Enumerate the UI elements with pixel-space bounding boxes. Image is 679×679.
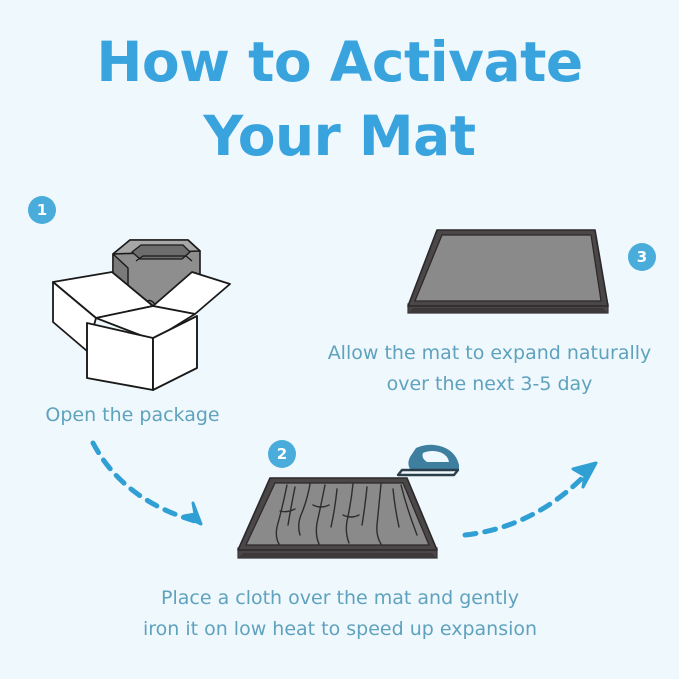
step-1-caption: Open the package — [0, 400, 265, 431]
title-line-2: Your Mat — [0, 100, 679, 174]
step-3-caption-line-2: over the next 3-5 day — [300, 369, 679, 400]
step-2-caption: Place a cloth over the mat and gently ir… — [110, 583, 570, 645]
step-1-caption-line-1: Open the package — [0, 400, 265, 431]
title-line-1: How to Activate — [0, 26, 679, 100]
dashed-arrow-step2-to-step3 — [455, 435, 610, 550]
step-2-caption-line-1: Place a cloth over the mat and gently — [110, 583, 570, 614]
open-cardboard-box-icon — [40, 218, 240, 403]
step-2-badge: 2 — [268, 440, 296, 468]
step-3-caption: Allow the mat to expand naturally over t… — [300, 338, 679, 400]
flat-expanded-mat-icon — [395, 218, 625, 328]
step-2-caption-line-2: iron it on low heat to speed up expansio… — [110, 614, 570, 645]
infographic-canvas: How to Activate Your Mat 1 — [0, 0, 679, 679]
page-title: How to Activate Your Mat — [0, 26, 679, 173]
step-3-badge: 3 — [628, 243, 656, 271]
dashed-arrow-step1-to-step2 — [85, 438, 225, 548]
step-3-caption-line-1: Allow the mat to expand naturally — [300, 338, 679, 369]
